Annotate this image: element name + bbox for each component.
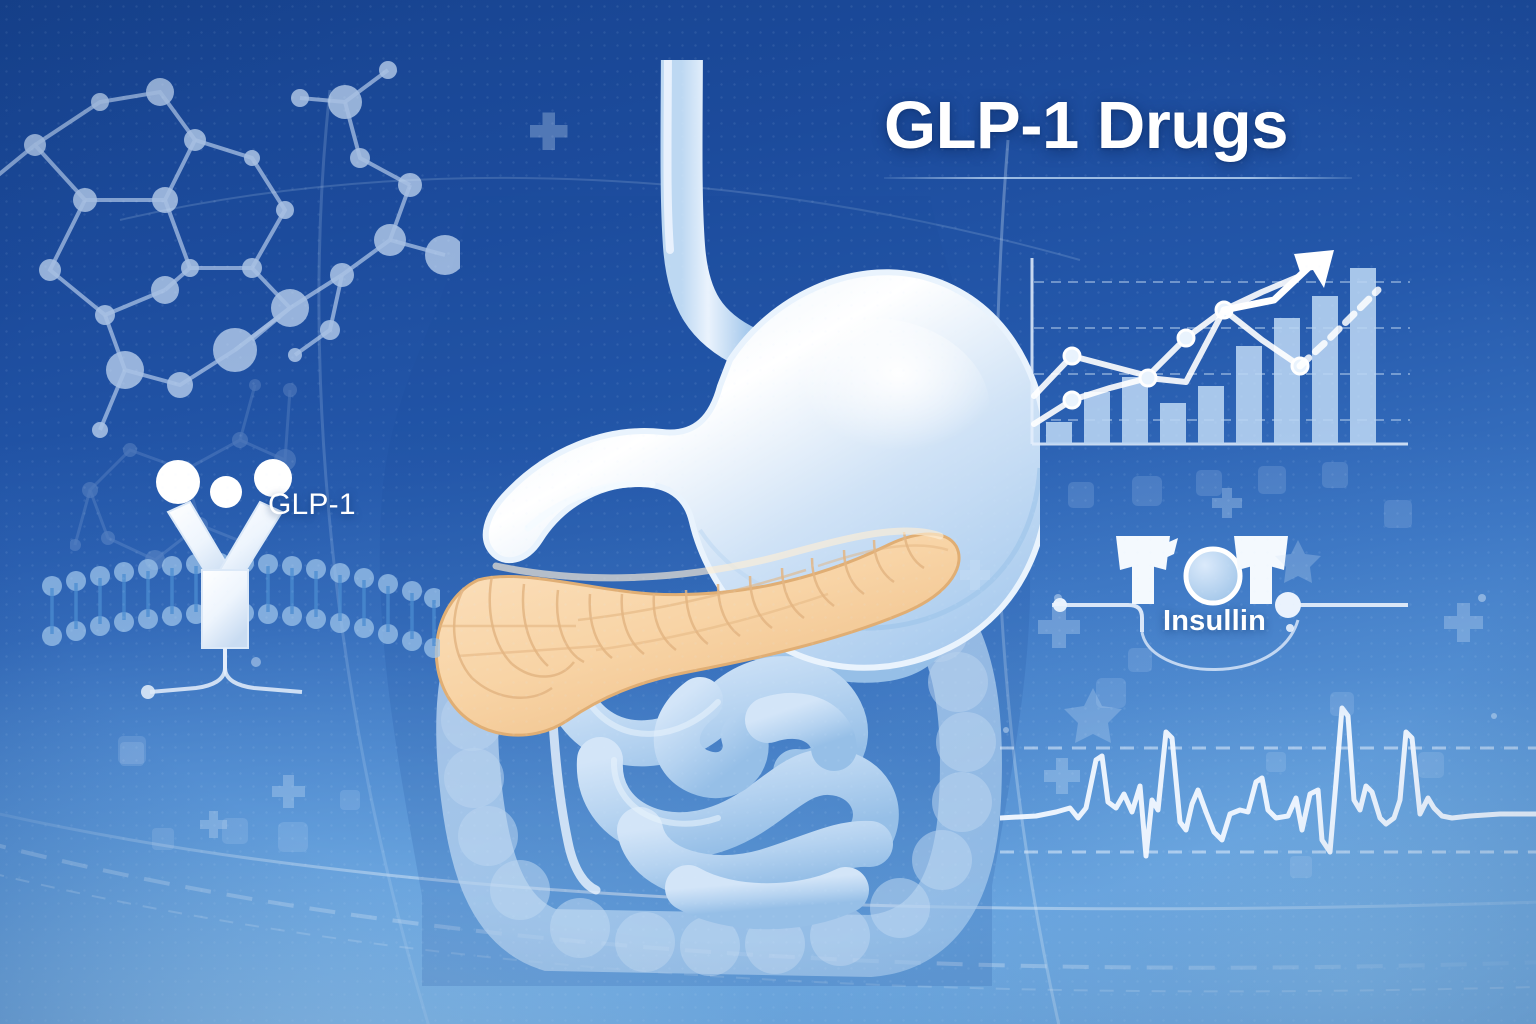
ecg-trace (1000, 708, 1536, 856)
y-receptor-right-icon (1234, 536, 1288, 604)
growth-chart (1008, 248, 1414, 474)
digestive-system-illustration (400, 60, 1040, 990)
title-block: GLP-1 Drugs (884, 92, 1354, 179)
insulin-receptor-diagram (1050, 508, 1410, 698)
page-title: GLP-1 Drugs (884, 92, 1354, 159)
insulin-label: Insullin (1163, 605, 1266, 638)
insulin-molecule-icon (1186, 549, 1240, 603)
glp1-receptor-diagram (40, 440, 440, 720)
glp1-label: GLP-1 (268, 488, 356, 522)
chart-bars (1046, 268, 1376, 444)
y-receptor-icon (168, 502, 282, 648)
ecg-waveform (1000, 690, 1536, 900)
infographic-canvas: GLP-1 (0, 0, 1536, 1024)
y-receptor-left-icon (1116, 536, 1178, 604)
esophagus (682, 60, 749, 348)
title-underline (884, 177, 1352, 179)
